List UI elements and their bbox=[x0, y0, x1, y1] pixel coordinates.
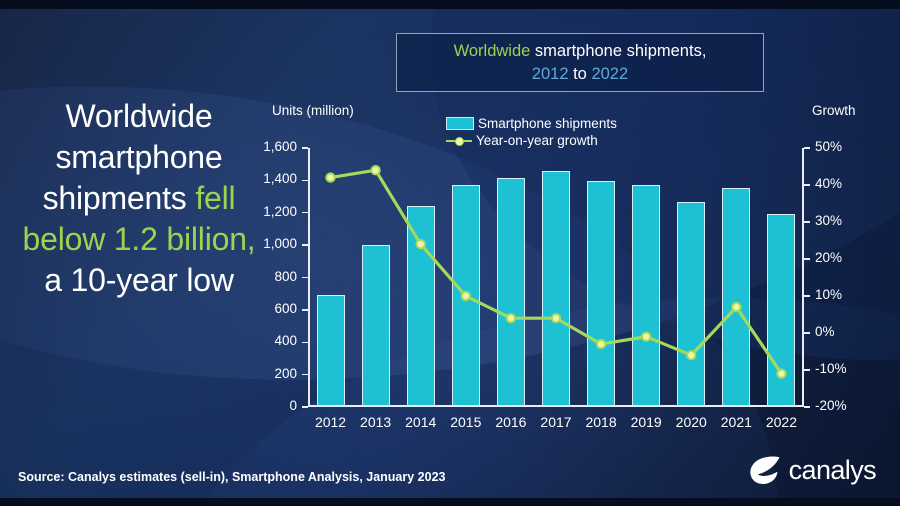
right-axis-tick-label: 10% bbox=[815, 287, 842, 302]
x-axis-label-2017: 2017 bbox=[533, 414, 578, 430]
right-axis-tick-label: -20% bbox=[815, 398, 847, 413]
chart-title-box: Worldwide smartphone shipments, 2012 to … bbox=[396, 33, 764, 92]
headline-part-2: a 10-year low bbox=[44, 262, 234, 298]
canalys-swoosh-icon bbox=[748, 454, 782, 486]
legend-label-shipments: Smartphone shipments bbox=[478, 116, 617, 131]
x-axis-label-2014: 2014 bbox=[398, 414, 443, 430]
headline: Worldwide smartphone shipments fell belo… bbox=[14, 96, 264, 301]
x-axis-label-2020: 2020 bbox=[669, 414, 714, 430]
right-axis-tick bbox=[804, 258, 810, 259]
right-axis-tick-label: 30% bbox=[815, 213, 842, 228]
right-axis-line bbox=[802, 148, 804, 407]
growth-marker-2016 bbox=[507, 314, 515, 322]
chart-title-word-worldwide: Worldwide bbox=[454, 42, 531, 60]
chart-title-to: to bbox=[569, 65, 592, 83]
canalys-logo-text: canalys bbox=[789, 455, 876, 486]
left-axis-tick-label: 0 bbox=[289, 398, 297, 413]
growth-marker-2015 bbox=[462, 292, 470, 300]
source-note: Source: Canalys estimates (sell-in), Sma… bbox=[18, 470, 445, 484]
chart-title-word-shipments: smartphone shipments, bbox=[530, 42, 706, 60]
right-axis-title: Growth bbox=[812, 103, 856, 118]
left-axis-tick-label: 400 bbox=[274, 333, 297, 348]
right-axis-tick-label: 40% bbox=[815, 176, 842, 191]
right-axis-tick bbox=[804, 369, 810, 370]
legend-label-growth: Year-on-year growth bbox=[476, 133, 598, 148]
growth-marker-2014 bbox=[417, 240, 425, 248]
growth-marker-2013 bbox=[371, 166, 379, 174]
chart-title-year-start: 2012 bbox=[532, 65, 569, 83]
left-axis-tick-label: 1,600 bbox=[263, 139, 297, 154]
x-axis-label-2013: 2013 bbox=[353, 414, 398, 430]
left-axis-tick-label: 1,200 bbox=[263, 204, 297, 219]
growth-line-path bbox=[331, 170, 782, 374]
left-axis-tick-label: 1,000 bbox=[263, 236, 297, 251]
right-axis-tick bbox=[804, 332, 810, 333]
x-axis-line bbox=[308, 405, 804, 407]
left-axis-tick-label: 600 bbox=[274, 301, 297, 316]
left-axis-line bbox=[308, 148, 310, 407]
x-axis-label-2022: 2022 bbox=[759, 414, 804, 430]
top-border-bar bbox=[0, 0, 900, 9]
growth-marker-2021 bbox=[732, 303, 740, 311]
legend-item-shipments[interactable]: Smartphone shipments bbox=[446, 116, 617, 131]
growth-marker-2019 bbox=[642, 333, 650, 341]
growth-marker-2022 bbox=[777, 370, 785, 378]
x-axis-label-2019: 2019 bbox=[624, 414, 669, 430]
x-axis-label-2021: 2021 bbox=[714, 414, 759, 430]
left-axis-tick-label: 800 bbox=[274, 269, 297, 284]
growth-marker-2012 bbox=[326, 173, 334, 181]
bottom-border-bar bbox=[0, 498, 900, 506]
chart-legend: Smartphone shipments Year-on-year growth bbox=[446, 116, 617, 148]
left-axis-title: Units (million) bbox=[272, 103, 354, 118]
plot-area: 02004006008001,0001,2001,4001,600 -20%-1… bbox=[308, 148, 804, 407]
x-axis-label-2015: 2015 bbox=[443, 414, 488, 430]
legend-line-swatch-icon bbox=[446, 135, 472, 146]
x-axis-label-2016: 2016 bbox=[488, 414, 533, 430]
right-axis-tick-label: 0% bbox=[815, 324, 835, 339]
left-axis-tick-label: 1,400 bbox=[263, 171, 297, 186]
right-axis-tick bbox=[804, 184, 810, 185]
chart-title-year-end: 2022 bbox=[591, 65, 628, 83]
legend-item-growth[interactable]: Year-on-year growth bbox=[446, 133, 617, 148]
canalys-logo: canalys bbox=[748, 454, 876, 486]
x-axis-label-2012: 2012 bbox=[308, 414, 353, 430]
right-axis-tick bbox=[804, 147, 810, 148]
legend-bar-swatch-icon bbox=[446, 117, 474, 130]
growth-marker-2018 bbox=[597, 340, 605, 348]
left-axis-tick-label: 200 bbox=[274, 366, 297, 381]
chart-title-text: Worldwide smartphone shipments, 2012 to … bbox=[444, 40, 717, 85]
right-axis-tick bbox=[804, 221, 810, 222]
right-axis-tick bbox=[804, 406, 810, 407]
growth-line-series bbox=[308, 148, 804, 407]
growth-marker-2020 bbox=[687, 351, 695, 359]
slide-canvas: Worldwide smartphone shipments fell belo… bbox=[0, 0, 900, 506]
right-axis-tick-label: -10% bbox=[815, 361, 847, 376]
right-axis-tick-label: 20% bbox=[815, 250, 842, 265]
growth-marker-2017 bbox=[552, 314, 560, 322]
x-axis-label-2018: 2018 bbox=[579, 414, 624, 430]
right-axis-tick-label: 50% bbox=[815, 139, 842, 154]
right-axis-tick bbox=[804, 295, 810, 296]
